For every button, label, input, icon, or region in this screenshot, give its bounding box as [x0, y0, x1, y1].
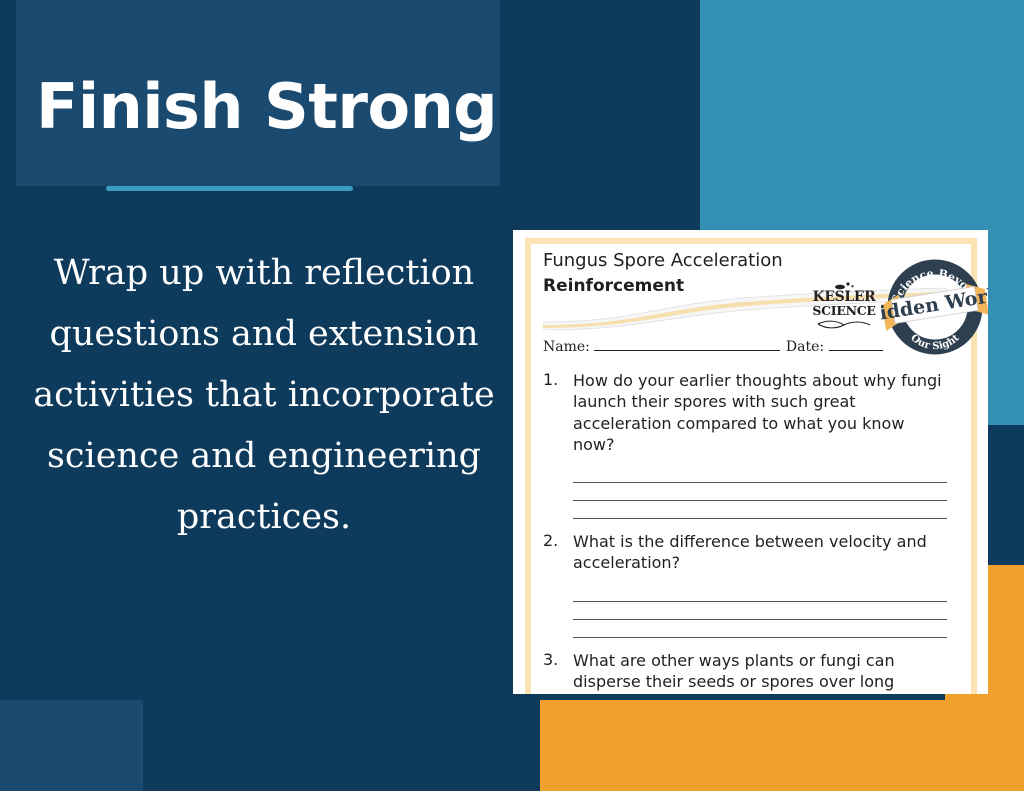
answer-line	[573, 483, 947, 501]
kesler-science-logo: KESLER SCIENCE	[810, 280, 878, 335]
worksheet-content: Fungus Spore Acceleration Reinforcement …	[543, 250, 947, 297]
question-text: What is the difference between velocity …	[573, 531, 947, 574]
question-number: 2.	[543, 531, 573, 574]
question-text: How do your earlier thoughts about why f…	[573, 370, 947, 455]
question-number: 3.	[543, 650, 573, 694]
logo-underline-swirl-icon	[816, 320, 872, 330]
kesler-logo-line2: SCIENCE	[810, 304, 878, 317]
answer-line	[573, 465, 947, 483]
decorative-block-blue-bottom-left	[0, 700, 143, 791]
title-underline-accent	[106, 186, 353, 191]
answer-line	[573, 584, 947, 602]
name-label: Name:	[543, 339, 590, 355]
slide-canvas: Finish Strong Wrap up with reflection qu…	[0, 0, 1024, 791]
worksheet-question: 1. How do your earlier thoughts about wh…	[543, 370, 947, 455]
decorative-block-orange-bottom	[540, 700, 1024, 791]
worksheet-image: Fungus Spore Acceleration Reinforcement …	[513, 230, 988, 694]
hidden-world-badge-logo: Science Beyond Our Sight Hidden World	[881, 253, 988, 361]
answer-lines-group	[573, 465, 947, 519]
worksheet-questions-list: 1. How do your earlier thoughts about wh…	[543, 370, 947, 694]
answer-line	[573, 620, 947, 638]
page-title: Finish Strong	[36, 76, 497, 138]
body-paragraph: Wrap up with reflection questions and ex…	[32, 243, 496, 547]
answer-line	[573, 501, 947, 519]
name-blank-line	[594, 338, 780, 351]
worksheet-question: 2. What is the difference between veloci…	[543, 531, 947, 574]
question-number: 1.	[543, 370, 573, 455]
worksheet-question: 3. What are other ways plants or fungi c…	[543, 650, 947, 694]
question-text: What are other ways plants or fungi can …	[573, 650, 947, 694]
date-blank-line	[829, 338, 883, 351]
answer-line	[573, 602, 947, 620]
answer-lines-group	[573, 584, 947, 638]
date-label: Date:	[786, 339, 824, 355]
kesler-logo-line1: KESLER	[810, 290, 878, 304]
